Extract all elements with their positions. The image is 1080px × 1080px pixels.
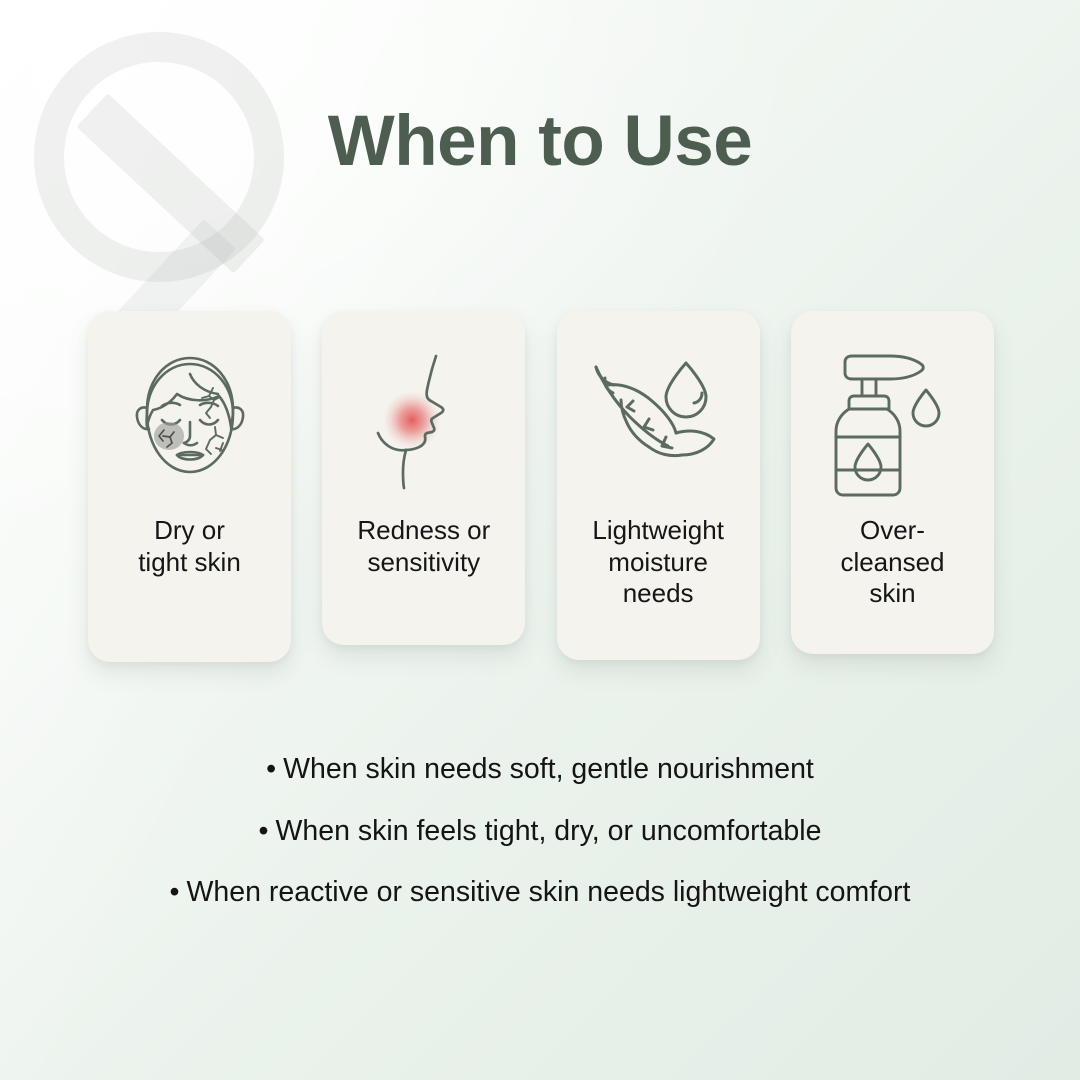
benefits-list: •When skin needs soft, gentle nourishmen… xyxy=(90,752,990,911)
dry-cracked-face-icon xyxy=(88,339,291,499)
card-label: Redness or sensitivity xyxy=(347,515,500,578)
card-lightweight-moisture-needs[interactable]: Lightweight moisture needs xyxy=(557,311,760,660)
list-item: •When reactive or sensitive skin needs l… xyxy=(90,875,990,911)
list-item: •When skin feels tight, dry, or uncomfor… xyxy=(90,814,990,850)
poster-canvas: MIANA When to Use xyxy=(0,0,1080,1080)
card-dry-or-tight-skin[interactable]: Dry or tight skin xyxy=(88,311,291,662)
card-redness-or-sensitivity[interactable]: Redness or sensitivity xyxy=(322,311,525,645)
feather-droplet-icon xyxy=(557,339,760,499)
card-over-cleansed-skin[interactable]: Over- cleansed skin xyxy=(791,311,994,654)
bullet-marker-icon: • xyxy=(259,815,269,847)
face-profile-redness-icon xyxy=(322,339,525,499)
card-row: Dry or tight skin xyxy=(88,311,994,662)
list-item-text: When skin feels tight, dry, or uncomfort… xyxy=(276,815,822,847)
pump-bottle-droplet-icon xyxy=(791,339,994,499)
page-title: When to Use xyxy=(0,105,1080,180)
bullet-marker-icon: • xyxy=(170,876,180,908)
card-label: Dry or tight skin xyxy=(128,515,251,578)
list-item-text: When reactive or sensitive skin needs li… xyxy=(187,876,911,908)
card-label: Lightweight moisture needs xyxy=(582,515,734,610)
list-item: •When skin needs soft, gentle nourishmen… xyxy=(90,752,990,788)
bullet-marker-icon: • xyxy=(266,753,276,785)
list-item-text: When skin needs soft, gentle nourishment xyxy=(283,753,814,785)
card-label: Over- cleansed skin xyxy=(830,515,954,610)
